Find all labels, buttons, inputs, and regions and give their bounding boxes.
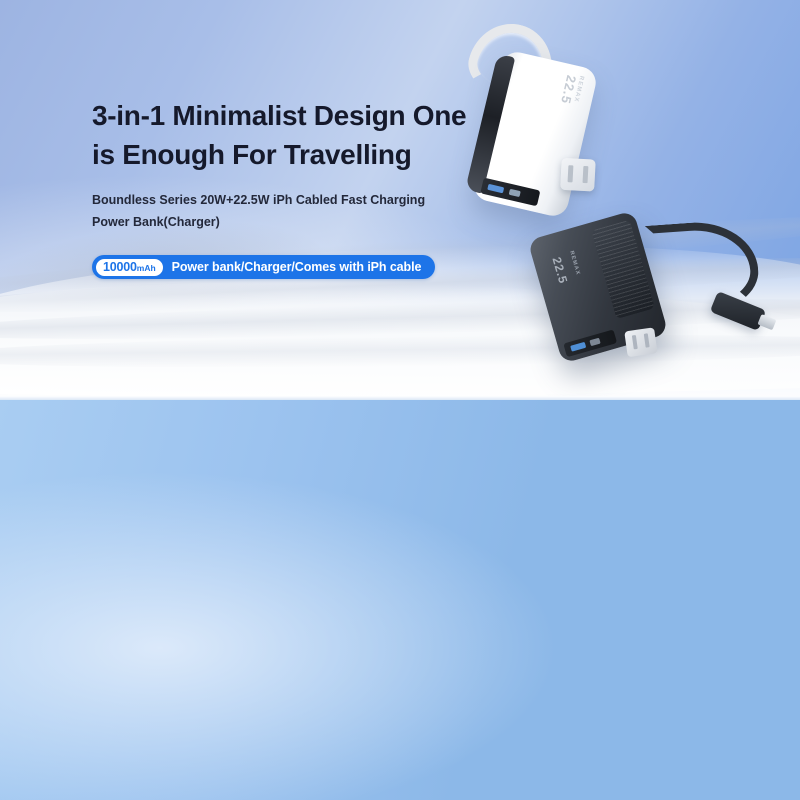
capacity-badge: 10000mAh Power bank/Charger/Comes with i… xyxy=(92,255,435,279)
bottom-hero-panel: 10:11 22.5 REMAX Widely Compatible Suppo… xyxy=(0,400,800,800)
dark-power-bank-plug-prongs xyxy=(624,327,657,357)
badge-feature-text: Power bank/Charger/Comes with iPh cable xyxy=(172,260,422,274)
top-subcopy: Boundless Series 20W+22.5W iPh Cabled Fa… xyxy=(92,190,437,233)
top-copy-block: 3-in-1 Minimalist Design One is Enough F… xyxy=(92,96,492,279)
product-marketing-page: 22.5 REMAX 22.5 REMAX 3-in-1 Minimalist … xyxy=(0,0,800,800)
capacity-number: 10000 xyxy=(103,259,137,276)
top-headline: 3-in-1 Minimalist Design One is Enough F… xyxy=(92,96,492,174)
capacity-pill: 10000mAh xyxy=(95,258,164,277)
capacity-unit: mAh xyxy=(137,260,156,277)
top-hero-panel: 22.5 REMAX 22.5 REMAX 3-in-1 Minimalist … xyxy=(0,0,800,396)
white-power-bank-plug-prongs xyxy=(560,158,596,192)
